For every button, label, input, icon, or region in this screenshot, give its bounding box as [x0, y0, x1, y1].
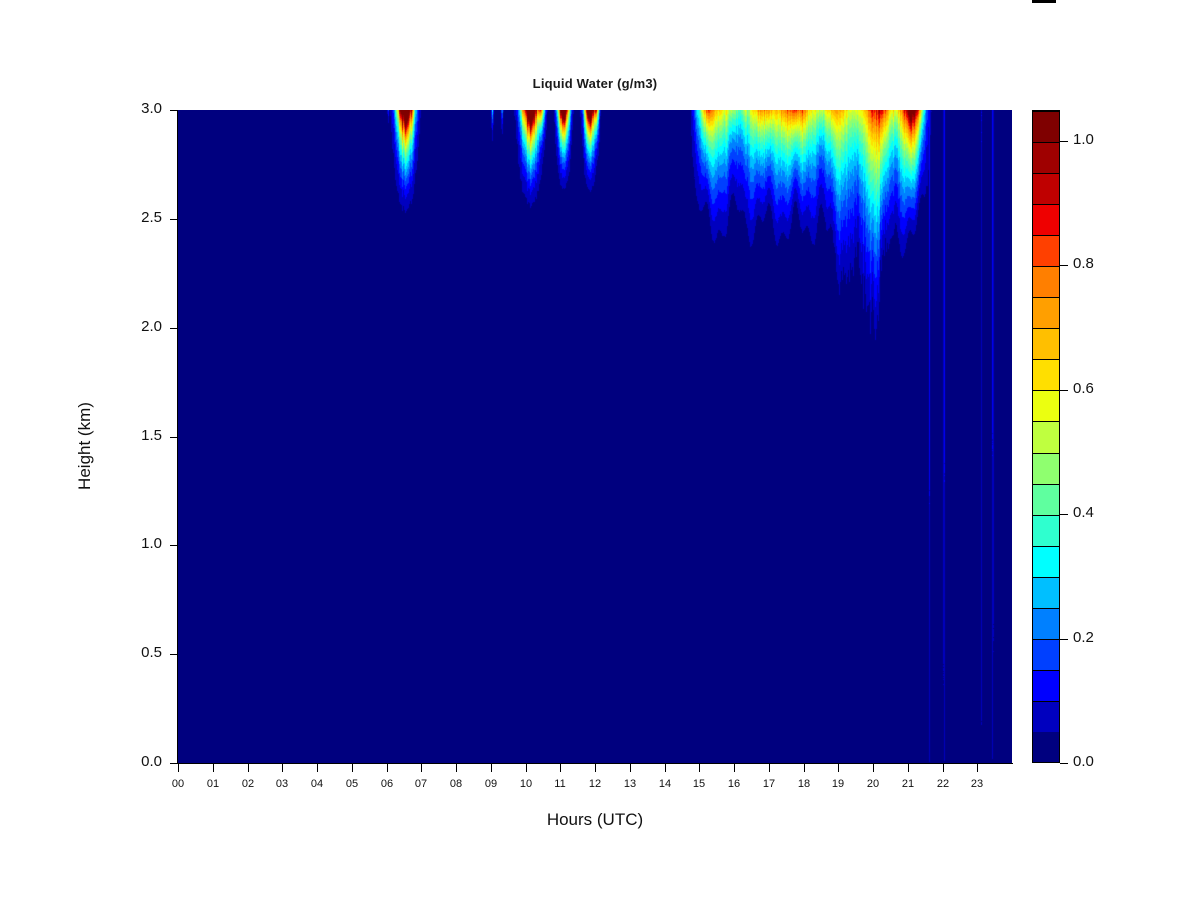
x-axis-tick-label: 20 [858, 778, 888, 790]
colorbar-band [1033, 297, 1059, 328]
x-axis-tick [178, 764, 179, 772]
y-axis-tick-label: 2.0 [141, 318, 162, 335]
x-axis-tick-label: 03 [267, 778, 297, 790]
x-axis-tick-label: 14 [650, 778, 680, 790]
y-axis-tick [170, 545, 177, 546]
colorbar-band [1033, 515, 1059, 546]
x-axis-tick-label: 12 [580, 778, 610, 790]
x-axis-tick-label: 08 [441, 778, 471, 790]
x-axis-tick [769, 764, 770, 772]
colorbar-band [1033, 328, 1059, 359]
x-axis-tick [387, 764, 388, 772]
x-axis-tick-label: 21 [893, 778, 923, 790]
colorbar-band [1033, 732, 1059, 762]
y-axis-tick [170, 110, 177, 111]
colorbar-band [1033, 670, 1059, 701]
x-axis-title: Hours (UTC) [178, 810, 1012, 830]
colorbar-band [1033, 204, 1059, 235]
x-axis-tick [734, 764, 735, 772]
x-axis-tick [456, 764, 457, 772]
y-axis-tick-label: 0.5 [141, 644, 162, 661]
page-title: Liquid Water (g/m3) [178, 76, 1012, 91]
x-axis-tick [873, 764, 874, 772]
y-axis-tick [170, 219, 177, 220]
x-axis-tick [977, 764, 978, 772]
x-axis-tick-label: 18 [789, 778, 819, 790]
colorbar [1032, 110, 1060, 763]
y-axis-tick-label: 2.5 [141, 209, 162, 226]
colorbar-tick-label: 0.6 [1073, 380, 1094, 397]
x-axis-tick [421, 764, 422, 772]
x-axis-tick-label: 04 [302, 778, 332, 790]
y-axis-tick [170, 328, 177, 329]
colorbar-band [1033, 142, 1059, 173]
colorbar-tick [1060, 514, 1068, 515]
x-axis-tick-label: 10 [511, 778, 541, 790]
colorbar-band [1033, 577, 1059, 608]
x-axis-tick [491, 764, 492, 772]
x-axis-tick-label: 01 [198, 778, 228, 790]
y-axis-title: Height (km) [75, 356, 95, 536]
colorbar-band [1033, 266, 1059, 297]
x-axis-tick [526, 764, 527, 772]
colorbar-tick [1060, 390, 1068, 391]
colorbar-band [1033, 390, 1059, 421]
x-axis-tick-label: 05 [337, 778, 367, 790]
x-axis-tick-label: 17 [754, 778, 784, 790]
y-axis-tick [170, 654, 177, 655]
colorbar-band [1033, 421, 1059, 452]
x-axis-tick [282, 764, 283, 772]
x-axis-tick [908, 764, 909, 772]
x-axis-tick [943, 764, 944, 772]
x-axis-tick-label: 16 [719, 778, 749, 790]
x-axis-tick-label: 11 [545, 778, 575, 790]
colorbar-tick-label: 0.2 [1073, 629, 1094, 646]
x-axis-tick-label: 07 [406, 778, 436, 790]
x-axis-tick [699, 764, 700, 772]
y-axis-tick [170, 763, 177, 764]
x-axis-tick-label: 09 [476, 778, 506, 790]
x-axis-tick-label: 15 [684, 778, 714, 790]
colorbar-band [1033, 484, 1059, 515]
x-axis-tick-label: 22 [928, 778, 958, 790]
colorbar-tick-label: 0.8 [1073, 255, 1094, 272]
colorbar-band [1033, 701, 1059, 732]
colorbar-tick [1060, 639, 1068, 640]
x-axis-tick [560, 764, 561, 772]
x-axis-tick [630, 764, 631, 772]
liquid-water-field-canvas [178, 110, 1012, 763]
heatmap-plot-area [178, 110, 1012, 763]
colorbar-tick-label: 1.0 [1073, 131, 1094, 148]
x-axis-tick [248, 764, 249, 772]
x-axis-tick [665, 764, 666, 772]
y-axis-tick-label: 1.0 [141, 535, 162, 552]
colorbar-tick-label: 0.4 [1073, 504, 1094, 521]
colorbar-tick [1060, 141, 1068, 142]
x-axis-tick [595, 764, 596, 772]
colorbar-band [1033, 111, 1059, 142]
y-axis-line [177, 110, 178, 764]
x-axis-tick-label: 06 [372, 778, 402, 790]
colorbar-band [1033, 608, 1059, 639]
x-axis-tick-label: 02 [233, 778, 263, 790]
x-axis-tick-label: 19 [823, 778, 853, 790]
colorbar-band [1033, 173, 1059, 204]
y-axis-tick-label: 0.0 [141, 753, 162, 770]
colorbar-band [1033, 639, 1059, 670]
x-axis-tick-label: 23 [962, 778, 992, 790]
colorbar-tick-label: 0.0 [1073, 753, 1094, 770]
colorbar-band [1033, 546, 1059, 577]
x-axis-tick [804, 764, 805, 772]
colorbar-tick [1060, 265, 1068, 266]
y-axis-tick-label: 3.0 [141, 100, 162, 117]
colorbar-band [1033, 235, 1059, 266]
colorbar-tick [1060, 763, 1068, 764]
corner-rule-artifact [1032, 0, 1056, 3]
y-axis-tick-label: 1.5 [141, 427, 162, 444]
x-axis-tick [352, 764, 353, 772]
colorbar-band [1033, 359, 1059, 390]
x-axis-tick [838, 764, 839, 772]
x-axis-tick-label: 00 [163, 778, 193, 790]
colorbar-band [1033, 453, 1059, 484]
y-axis-tick [170, 437, 177, 438]
x-axis-tick-label: 13 [615, 778, 645, 790]
liquid-water-curtain-plot: Liquid Water (g/m3) 0.00.51.01.52.02.53.… [0, 0, 1200, 900]
x-axis-tick [317, 764, 318, 772]
x-axis-tick [213, 764, 214, 772]
